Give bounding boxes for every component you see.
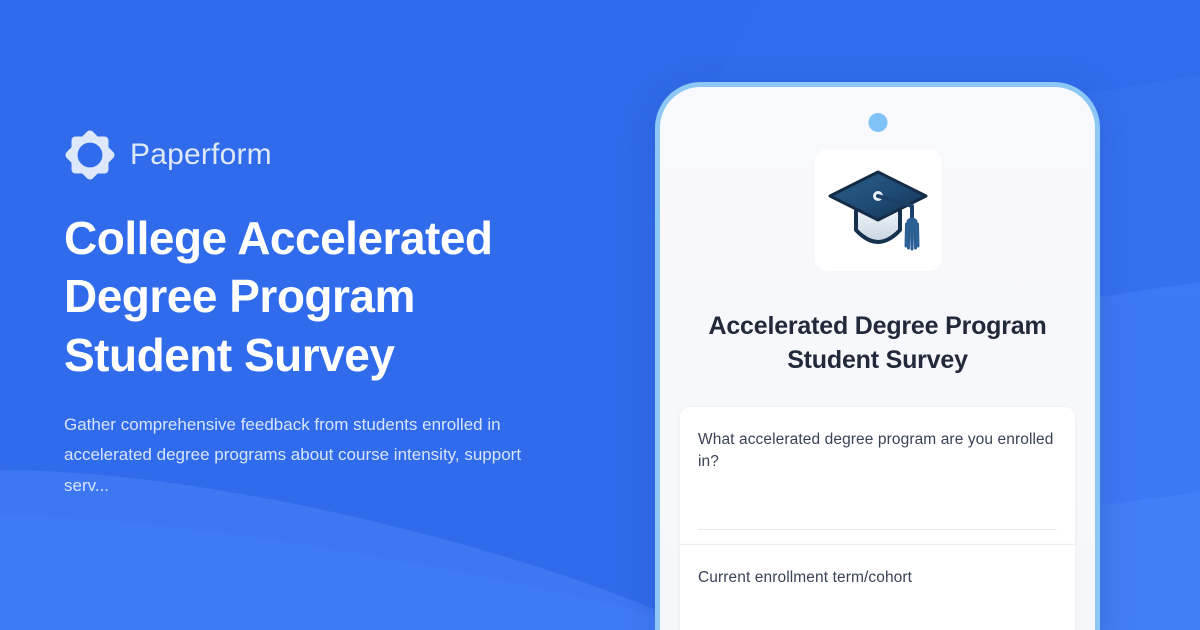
page-title: College Accelerated Degree Program Stude…	[64, 209, 574, 384]
form-questions-list: What accelerated degree program are you …	[680, 407, 1075, 630]
question-card[interactable]: Current enrollment term/cohort	[680, 545, 1075, 630]
question-input-underline[interactable]	[698, 529, 1057, 530]
phone-screen: Accelerated Degree Program Student Surve…	[660, 87, 1095, 630]
brand-name: Paperform	[130, 140, 272, 170]
form-title: Accelerated Degree Program Student Surve…	[660, 309, 1095, 378]
camera-dot-icon	[868, 113, 887, 132]
paperform-star-logo-icon	[64, 129, 116, 181]
question-card[interactable]: What accelerated degree program are you …	[680, 407, 1075, 544]
phone-mockup: Accelerated Degree Program Student Surve…	[655, 82, 1100, 630]
hero-description: Gather comprehensive feedback from stude…	[64, 410, 544, 501]
form-icon-container	[815, 149, 941, 271]
hero-content: Paperform College Accelerated Degree Pro…	[64, 0, 604, 630]
graduation-cap-icon	[826, 164, 930, 256]
question-label: Current enrollment term/cohort	[698, 567, 1057, 589]
brand-lockup: Paperform	[64, 129, 604, 181]
question-label: What accelerated degree program are you …	[698, 429, 1057, 473]
